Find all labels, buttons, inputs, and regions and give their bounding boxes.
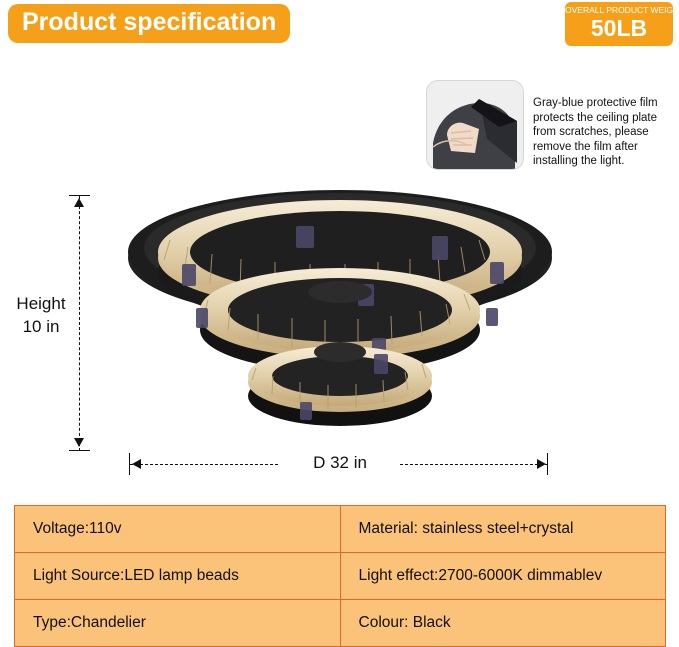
table-row: Light Source:LED lamp beads Light effect… xyxy=(15,553,666,600)
overall-weight-badge: OVERALL PRODUCT WEIGHT 50LB xyxy=(565,2,673,46)
height-arrow-down-icon xyxy=(74,438,84,447)
diameter-right-cap xyxy=(547,453,548,475)
page-title: Product specification xyxy=(8,4,290,43)
height-label-line2: 10 in xyxy=(6,315,76,338)
height-arrow-up-icon xyxy=(74,198,84,207)
diameter-arrow-right-icon xyxy=(537,459,546,469)
spec-light-effect: Light effect:2700-6000K dimmablev xyxy=(340,553,666,600)
diameter-arrow-left-icon xyxy=(132,459,141,469)
protective-film-illustration xyxy=(426,80,524,170)
protective-film-note: Gray-blue protective film protects the c… xyxy=(533,96,678,169)
spec-colour: Colour: Black xyxy=(340,600,666,647)
table-row: Type:Chandelier Colour: Black xyxy=(15,600,666,647)
specification-table: Voltage:110v Material: stainless steel+c… xyxy=(14,505,666,647)
crystal-chandelier-graphic xyxy=(110,180,570,470)
spec-voltage: Voltage:110v xyxy=(15,506,341,553)
product-specification-page: Product specification OVERALL PRODUCT WE… xyxy=(0,0,679,615)
height-label: Height 10 in xyxy=(6,292,76,338)
height-dimension-line xyxy=(79,196,80,451)
hand-peeling-film-icon xyxy=(427,81,523,169)
height-label-line1: Height xyxy=(6,292,76,315)
diameter-label: D 32 in xyxy=(280,453,400,473)
product-image xyxy=(110,180,570,470)
spec-type: Type:Chandelier xyxy=(15,600,341,647)
height-bottom-cap xyxy=(69,450,90,451)
weight-value: 50LB xyxy=(565,16,673,40)
spec-light-source: Light Source:LED lamp beads xyxy=(15,553,341,600)
spec-material: Material: stainless steel+crystal xyxy=(340,506,666,553)
table-row: Voltage:110v Material: stainless steel+c… xyxy=(15,506,666,553)
weight-caption: OVERALL PRODUCT WEIGHT xyxy=(565,2,673,16)
